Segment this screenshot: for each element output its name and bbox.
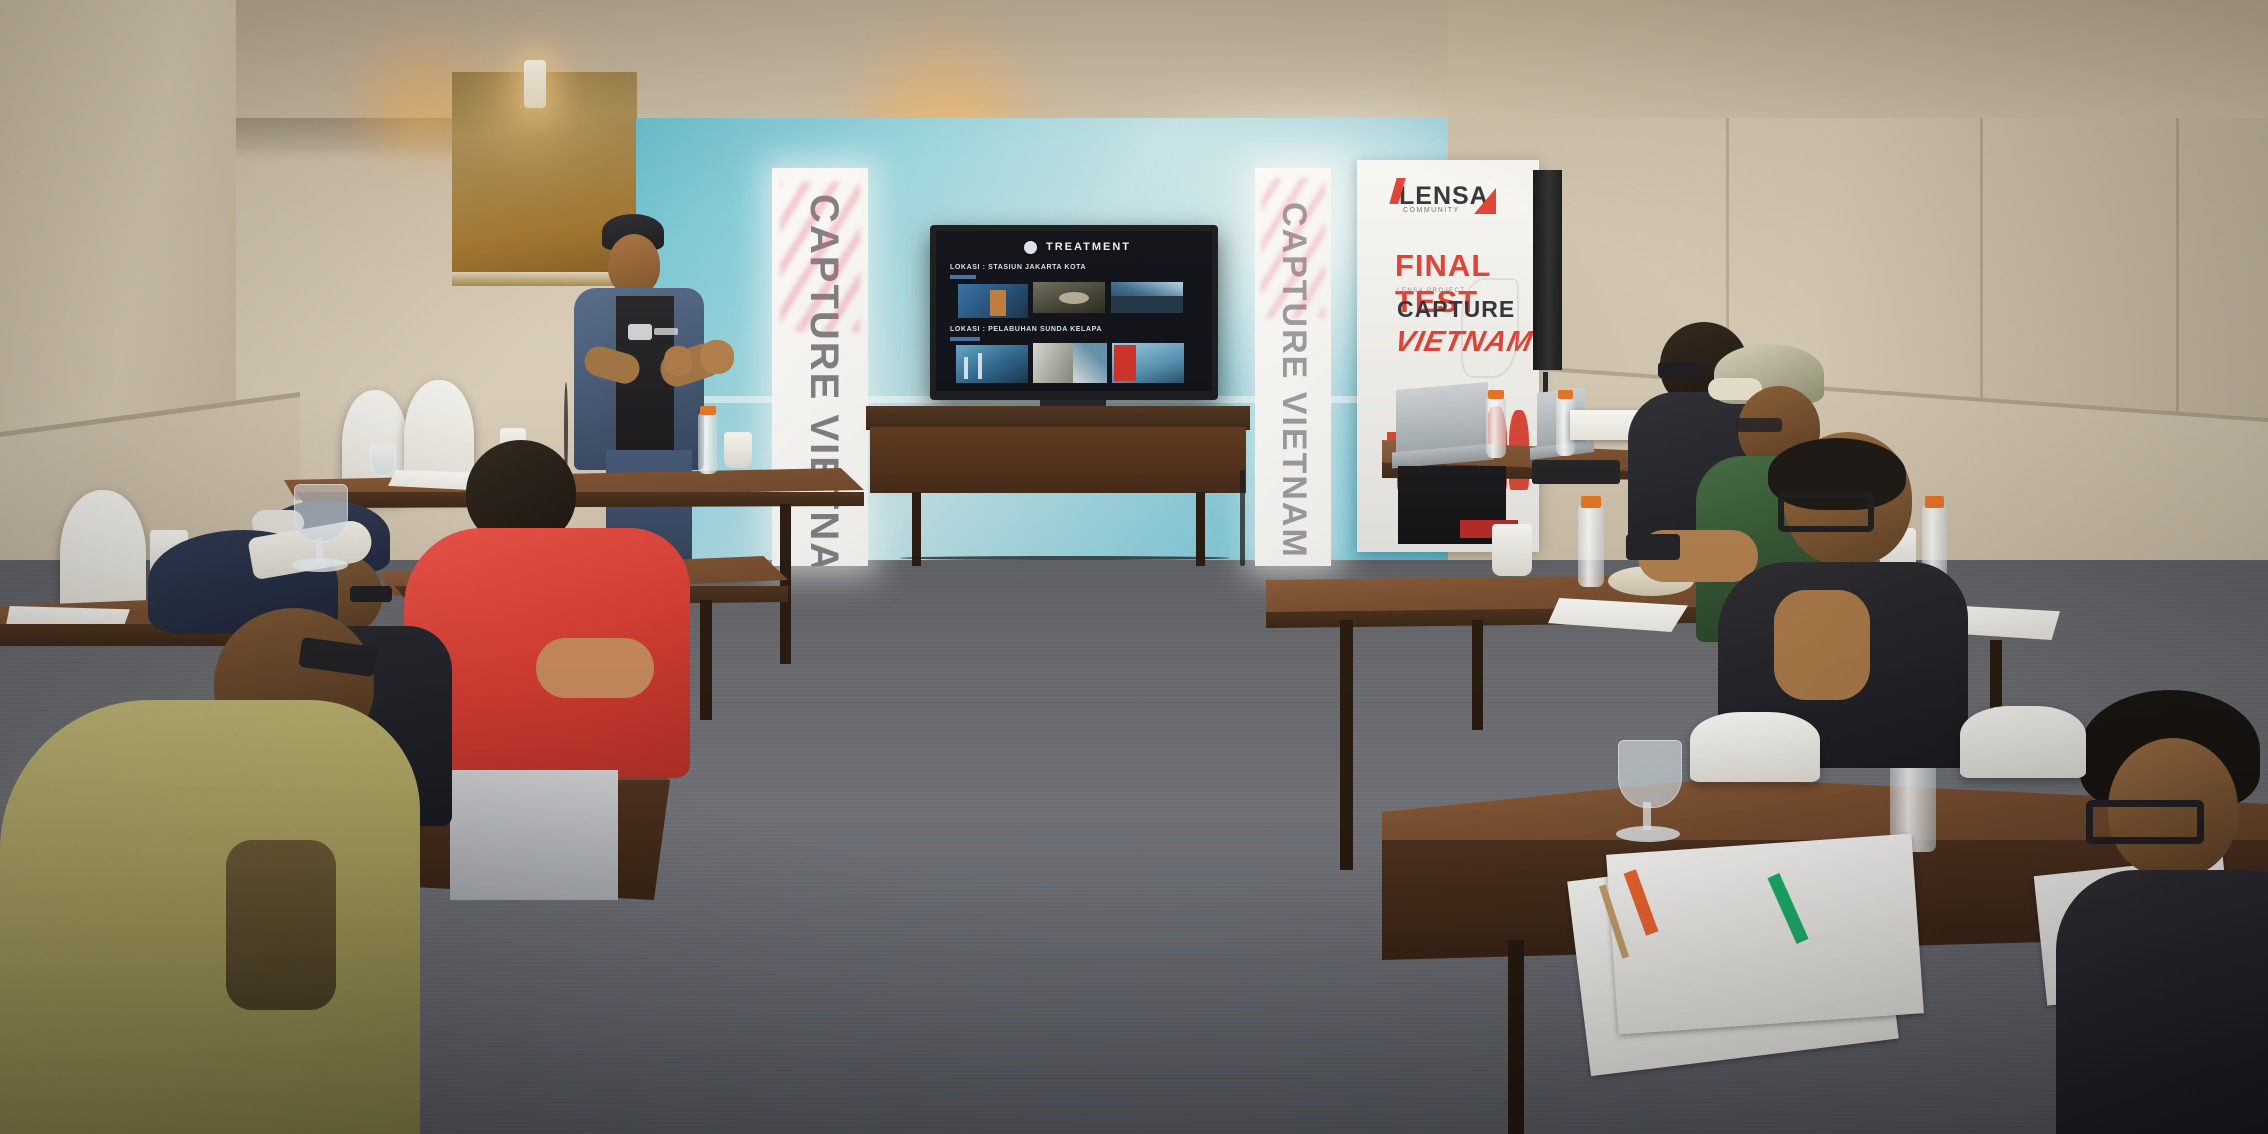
- presentation-thumbnail: [1112, 343, 1184, 383]
- attendee-shoulder-shadow: [226, 840, 336, 1010]
- eyeglasses: [2086, 800, 2204, 844]
- presentation-title: TREATMENT: [1046, 241, 1131, 253]
- water-glass: [294, 484, 348, 542]
- power-cable: [900, 556, 1230, 560]
- table-leg: [1508, 940, 1524, 1134]
- paper-sheet: [1606, 834, 1924, 1035]
- attendee-arm: [1774, 590, 1870, 700]
- attendee-olive-shirt: [0, 700, 420, 1134]
- tv-credenza-front: [870, 427, 1246, 493]
- glass-base: [292, 558, 348, 572]
- attendee-dark-shirt: [2056, 870, 2268, 1134]
- bottle-cap: [1488, 390, 1504, 399]
- lensa-logo-flag-icon: [1474, 188, 1496, 214]
- lensa-logo-subtext: COMMUNITY: [1403, 207, 1460, 214]
- water-glass: [1618, 740, 1682, 808]
- glass-base: [1616, 826, 1680, 842]
- water-glass: [370, 444, 396, 476]
- bottle-cap: [1558, 390, 1573, 399]
- banner-project-label: LENSA PROJECT: [1397, 288, 1466, 294]
- side-banner-right: CAPTURE VIETNAM: [1255, 168, 1331, 566]
- attendee-foreground-right: [2056, 690, 2268, 1134]
- attendee-olive: [0, 522, 460, 1134]
- tv-screen: TREATMENT LOKASI : STASIUN JAKARTA KOTA …: [936, 231, 1212, 391]
- presentation-thumbnail: [956, 345, 1028, 383]
- right-wall-upper: [1448, 0, 2268, 118]
- presentation-thumbnail: [958, 284, 1028, 318]
- power-cable: [1240, 470, 1245, 566]
- camera-bag: [1532, 460, 1620, 484]
- credenza-leg: [1196, 492, 1205, 566]
- presenter-head: [608, 234, 660, 296]
- table-leg: [1340, 620, 1353, 870]
- eyeglasses: [1736, 418, 1782, 432]
- banquet-chair: [1960, 706, 2086, 778]
- presentation-thumbnail: [1033, 282, 1105, 313]
- table-leg: [1472, 620, 1483, 730]
- eyeglasses: [1778, 492, 1874, 532]
- wall-sconce-icon: [524, 60, 546, 108]
- circle-logo-icon: [1024, 241, 1037, 254]
- attendee-arm: [536, 638, 654, 698]
- presentation-location-tag: [950, 337, 980, 341]
- presenter-hand-right: [700, 340, 734, 374]
- credenza-leg: [912, 492, 921, 566]
- presentation-location-tag: [950, 275, 976, 279]
- tshirt-logo: [628, 324, 652, 340]
- tower-speaker: [1533, 170, 1562, 370]
- side-banner-script-art: [1261, 178, 1325, 318]
- attendee-light-pants: [450, 770, 618, 900]
- presentation-location-label: LOKASI : PELABUHAN SUNDA KELAPA: [950, 326, 1102, 333]
- presentation-thumbnail: [1033, 343, 1107, 383]
- bottle-cap: [1581, 496, 1601, 508]
- water-bottle: [1578, 505, 1604, 587]
- vietnam-map-outline: [1461, 278, 1519, 378]
- smartphone: [1626, 534, 1680, 560]
- bottle-cap: [700, 406, 716, 415]
- table-leg: [780, 504, 791, 664]
- meeting-room-photo: CAPTURE VIETNAM CAPTURE VIETNAM LENSA CO…: [0, 0, 2268, 1134]
- presentation-thumbnail: [1111, 282, 1183, 313]
- paper-cup: [1492, 524, 1532, 576]
- paper-cup: [724, 432, 752, 468]
- presenter-hand-left: [664, 346, 692, 376]
- side-banner-script-art: [780, 182, 860, 332]
- banquet-chair: [1690, 712, 1820, 782]
- presentation-location-label: LOKASI : STASIUN JAKARTA KOTA: [950, 264, 1086, 271]
- water-bottle: [1486, 396, 1506, 458]
- tshirt-wordmark: [654, 328, 678, 335]
